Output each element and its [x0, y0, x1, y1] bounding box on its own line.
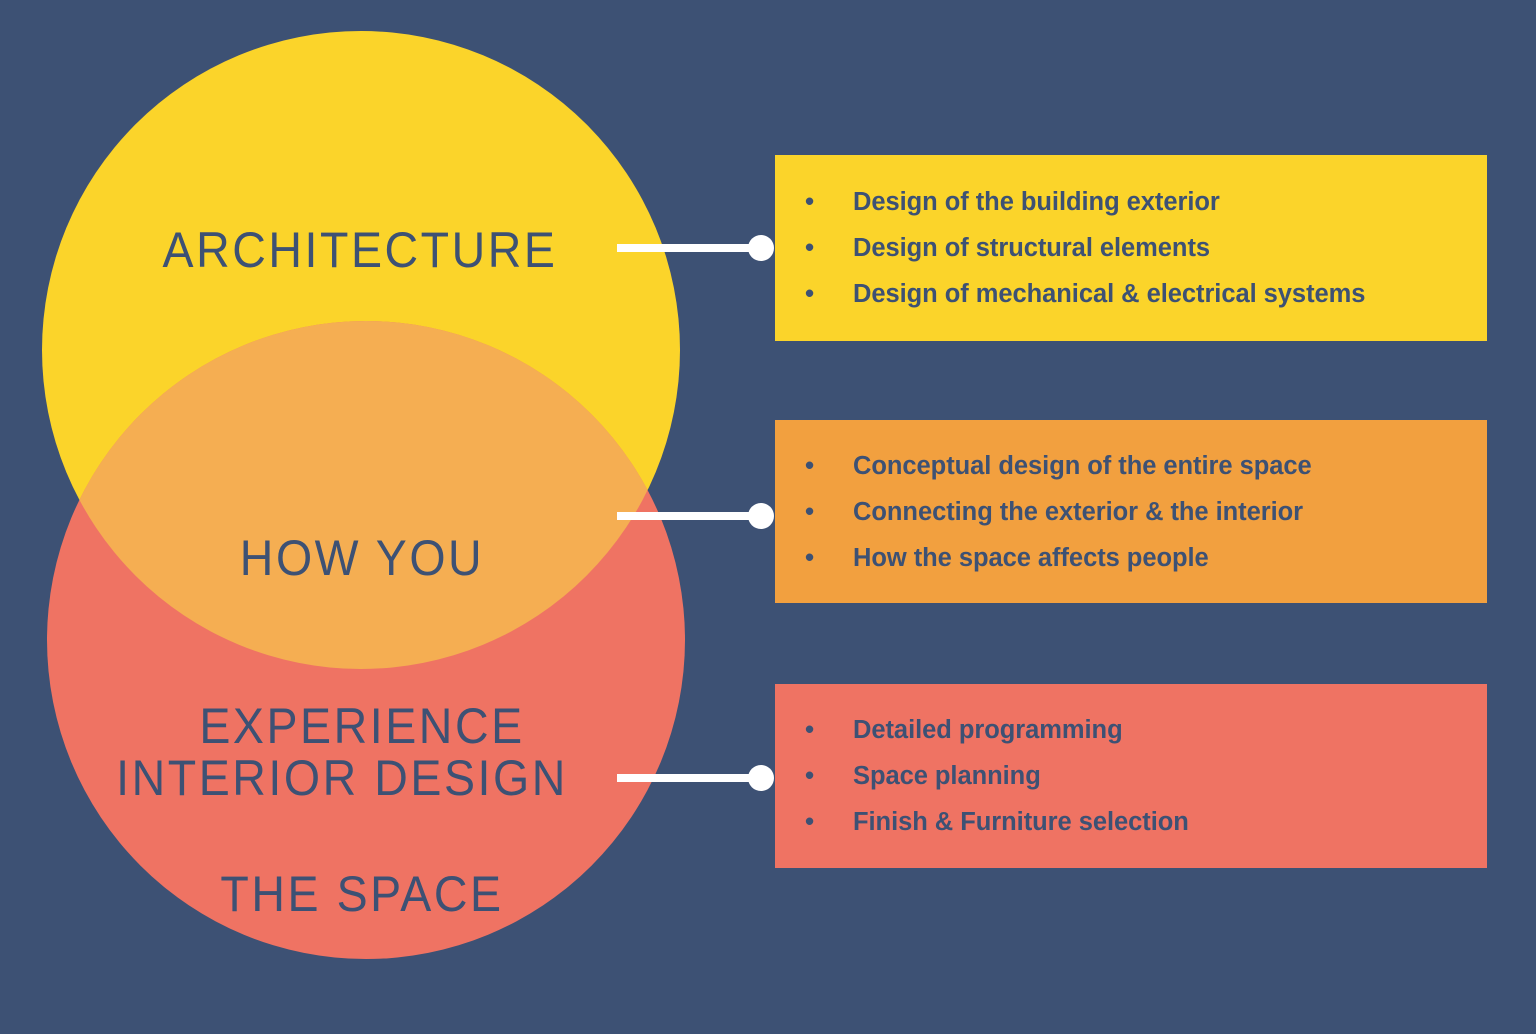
venn-label-intersection-line-1: HOW YOU	[83, 530, 641, 586]
connector-line-architecture	[617, 244, 765, 252]
bullet-text: Conceptual design of the entire space	[853, 444, 1487, 489]
bullet-point-icon: •	[803, 179, 853, 224]
venn-label-intersection-line-3: THE SPACE	[83, 866, 641, 922]
bullet-item: • Design of mechanical & electrical syst…	[803, 271, 1487, 317]
bullet-list-architecture: • Design of the building exterior • Desi…	[803, 179, 1487, 317]
bullet-text: Connecting the exterior & the interior	[853, 490, 1487, 535]
bullet-point-icon: •	[803, 489, 853, 534]
venn-label-intersection: HOW YOU EXPERIENCE THE SPACE	[83, 418, 641, 1034]
bullet-point-icon: •	[803, 535, 853, 580]
bullet-item: • Finish & Furniture selection	[803, 799, 1487, 845]
bullet-text: Finish & Furniture selection	[853, 800, 1487, 845]
bullet-text: Space planning	[853, 754, 1487, 799]
callout-box-interior-design[interactable]: • Detailed programming • Space planning …	[775, 684, 1487, 868]
bullet-item: • How the space affects people	[803, 535, 1487, 581]
connector-line-interior-design	[617, 774, 765, 782]
bullet-item: • Connecting the exterior & the interior	[803, 489, 1487, 535]
bullet-item: • Conceptual design of the entire space	[803, 443, 1487, 489]
bullet-point-icon: •	[803, 225, 853, 270]
bullet-point-icon: •	[803, 443, 853, 488]
bullet-point-icon: •	[803, 799, 853, 844]
connector-line-intersection	[617, 512, 765, 520]
bullet-text: Detailed programming	[853, 708, 1487, 753]
callout-box-architecture[interactable]: • Design of the building exterior • Desi…	[775, 155, 1487, 341]
diagram-canvas: ARCHITECTURE HOW YOU EXPERIENCE THE SPAC…	[0, 0, 1536, 1024]
bullet-text: How the space affects people	[853, 536, 1487, 581]
connector-dot-interior-design	[748, 765, 774, 791]
venn-label-intersection-line-2: EXPERIENCE	[83, 698, 641, 754]
callout-box-intersection[interactable]: • Conceptual design of the entire space …	[775, 420, 1487, 603]
connector-dot-intersection	[748, 503, 774, 529]
bullet-item: • Space planning	[803, 753, 1487, 799]
bullet-item: • Design of structural elements	[803, 225, 1487, 271]
bullet-text: Design of structural elements	[853, 226, 1487, 271]
bullet-list-interior-design: • Detailed programming • Space planning …	[803, 707, 1487, 845]
bullet-point-icon: •	[803, 271, 853, 316]
connector-dot-architecture	[748, 235, 774, 261]
bullet-item: • Detailed programming	[803, 707, 1487, 753]
bullet-text: Design of the building exterior	[853, 180, 1487, 225]
bullet-point-icon: •	[803, 707, 853, 752]
venn-label-architecture: ARCHITECTURE	[81, 222, 639, 278]
venn-label-interior-design: INTERIOR DESIGN	[63, 750, 621, 806]
bullet-text: Design of mechanical & electrical system…	[853, 272, 1487, 317]
bullet-point-icon: •	[803, 753, 853, 798]
bullet-list-intersection: • Conceptual design of the entire space …	[803, 443, 1487, 581]
bullet-item: • Design of the building exterior	[803, 179, 1487, 225]
